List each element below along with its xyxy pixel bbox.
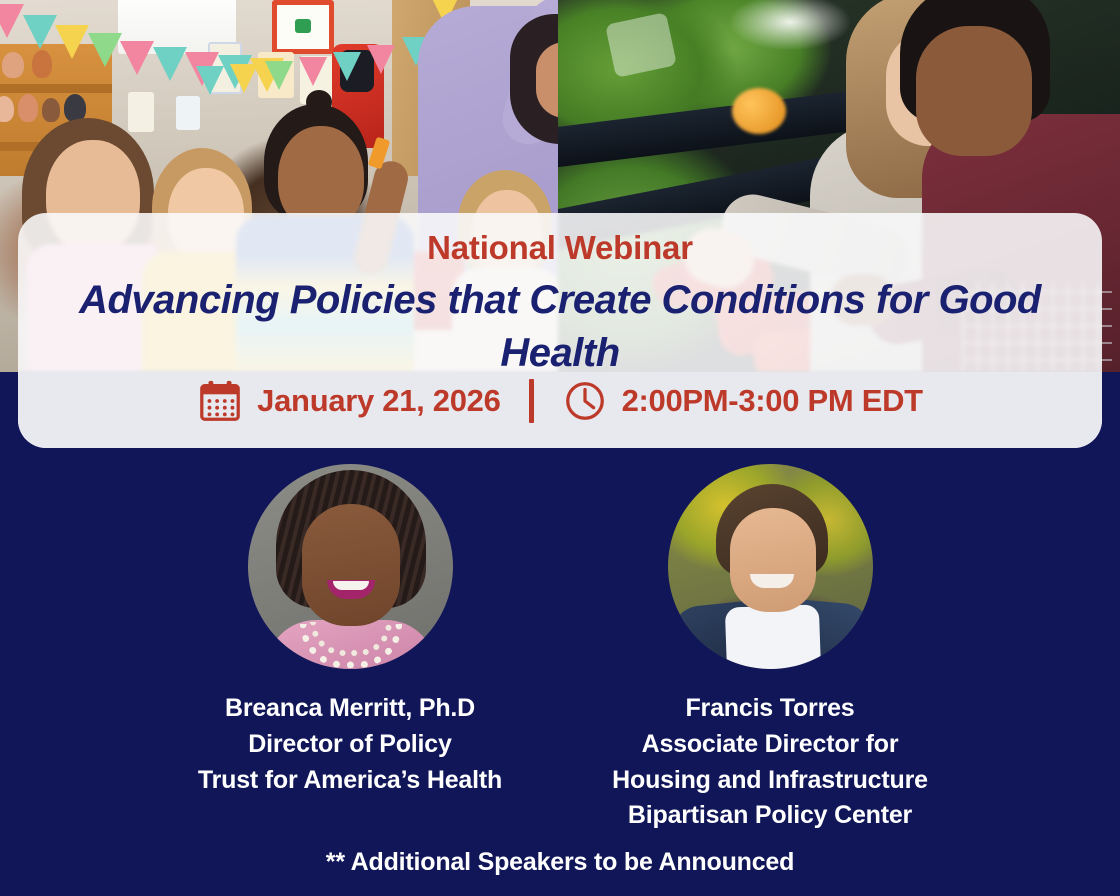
bunting-flag <box>265 61 293 90</box>
speaker-info: Francis Torres Associate Director for Ho… <box>605 691 935 834</box>
webinar-promo-poster: National Webinar Advancing Policies that… <box>0 0 1120 896</box>
speaker-photo-francis-torres <box>668 464 873 669</box>
speaker-org: Trust for America’s Health <box>185 763 515 799</box>
speaker-card: Francis Torres Associate Director for Ho… <box>605 464 935 834</box>
bunting-flag <box>23 15 57 49</box>
speaker-photo-breanca-merritt <box>248 464 453 669</box>
bunting-flag <box>120 41 154 75</box>
bunting-flag <box>299 57 327 86</box>
speaker-name: Francis Torres <box>605 691 935 727</box>
speaker-org: Bipartisan Policy Center <box>605 798 935 834</box>
bunting-flag <box>88 33 122 67</box>
bunting-flag <box>367 45 395 74</box>
produce-wrapper <box>605 12 677 78</box>
speaker-name: Breanca Merritt, Ph.D <box>185 691 515 727</box>
bunting-flag <box>230 64 258 93</box>
additional-speakers-note: ** Additional Speakers to be Announced <box>0 848 1120 877</box>
bunting-flag <box>153 47 187 81</box>
bunting-flag <box>196 66 224 95</box>
speakers-section: Breanca Merritt, Ph.D Director of Policy… <box>0 464 1120 834</box>
webinar-kicker: National Webinar <box>58 229 1062 268</box>
webinar-info-card: National Webinar Advancing Policies that… <box>18 213 1102 448</box>
bunting-flag <box>333 52 361 81</box>
page-title: Advancing Policies that Create Condition… <box>58 274 1062 380</box>
speaker-title-line-2: Housing and Infrastructure <box>605 763 935 799</box>
speaker-title-line-1: Associate Director for <box>605 727 935 763</box>
speaker-card: Breanca Merritt, Ph.D Director of Policy… <box>185 464 515 834</box>
bunting-flag <box>55 25 89 59</box>
speaker-title: Director of Policy <box>185 727 515 763</box>
bunting-flag <box>0 4 24 38</box>
speaker-info: Breanca Merritt, Ph.D Director of Policy… <box>185 691 515 798</box>
